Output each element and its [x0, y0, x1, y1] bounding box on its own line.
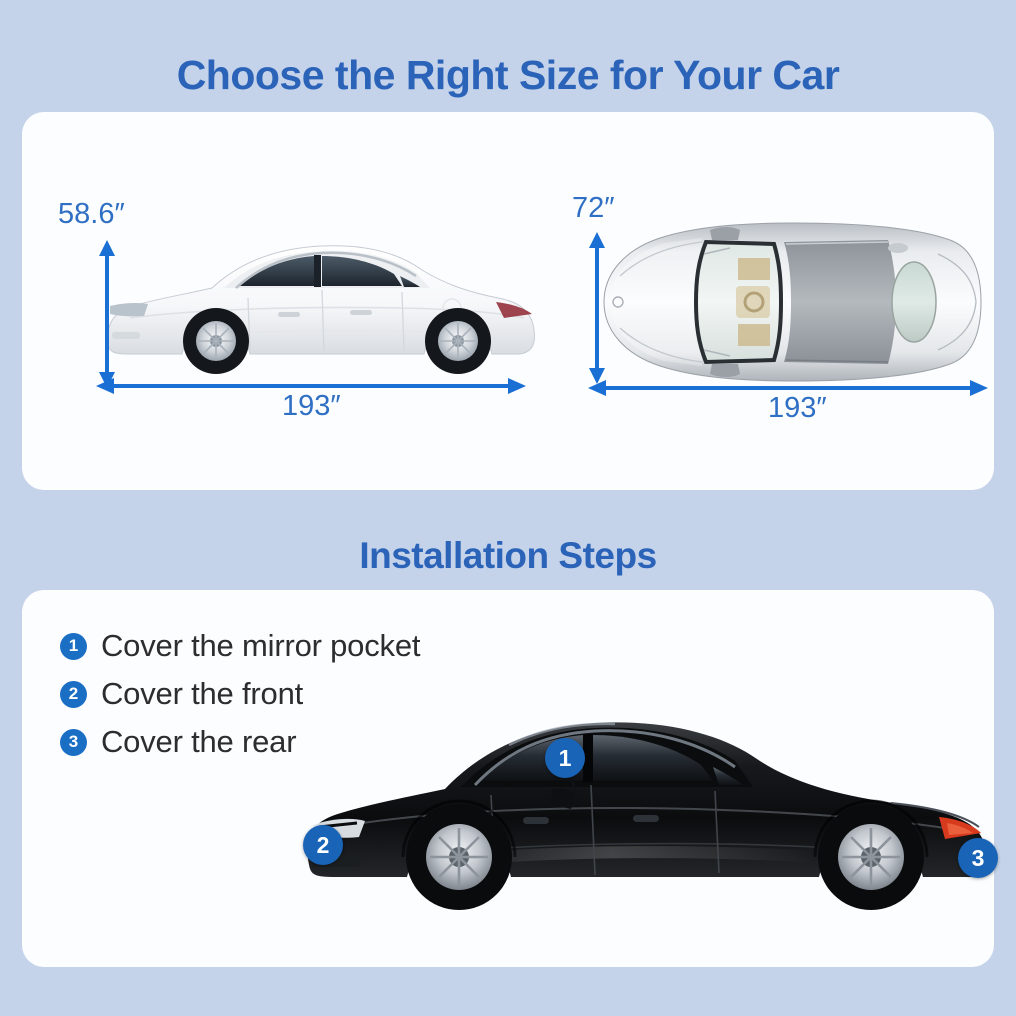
silver-sedan-top-view-image: [598, 218, 986, 386]
height-label-side-view: 58.6″: [58, 198, 125, 231]
list-item: 1 Cover the mirror pocket: [60, 622, 530, 670]
page-title-steps: Installation Steps: [0, 535, 1016, 577]
step-label: Cover the mirror pocket: [101, 628, 420, 664]
black-sedan-side-view-image: [295, 705, 995, 935]
callout-badge-rear: 3: [958, 838, 998, 878]
white-sedan-side-view-image: [100, 240, 540, 385]
step-number-badge: 3: [60, 729, 87, 756]
length-label-side-view: 193″: [282, 390, 341, 423]
page-title-size: Choose the Right Size for Your Car: [0, 52, 1016, 99]
length-label-top-view: 193″: [768, 392, 827, 425]
width-arrow-top-view: [586, 232, 608, 384]
callout-badge-mirror: 1: [545, 738, 585, 778]
step-label: Cover the front: [101, 676, 303, 712]
step-number-badge: 1: [60, 633, 87, 660]
step-number-badge: 2: [60, 681, 87, 708]
height-arrow-side-view: [96, 240, 118, 388]
width-label-top-view: 72″: [572, 192, 615, 225]
callout-badge-front: 2: [303, 825, 343, 865]
step-label: Cover the rear: [101, 724, 296, 760]
